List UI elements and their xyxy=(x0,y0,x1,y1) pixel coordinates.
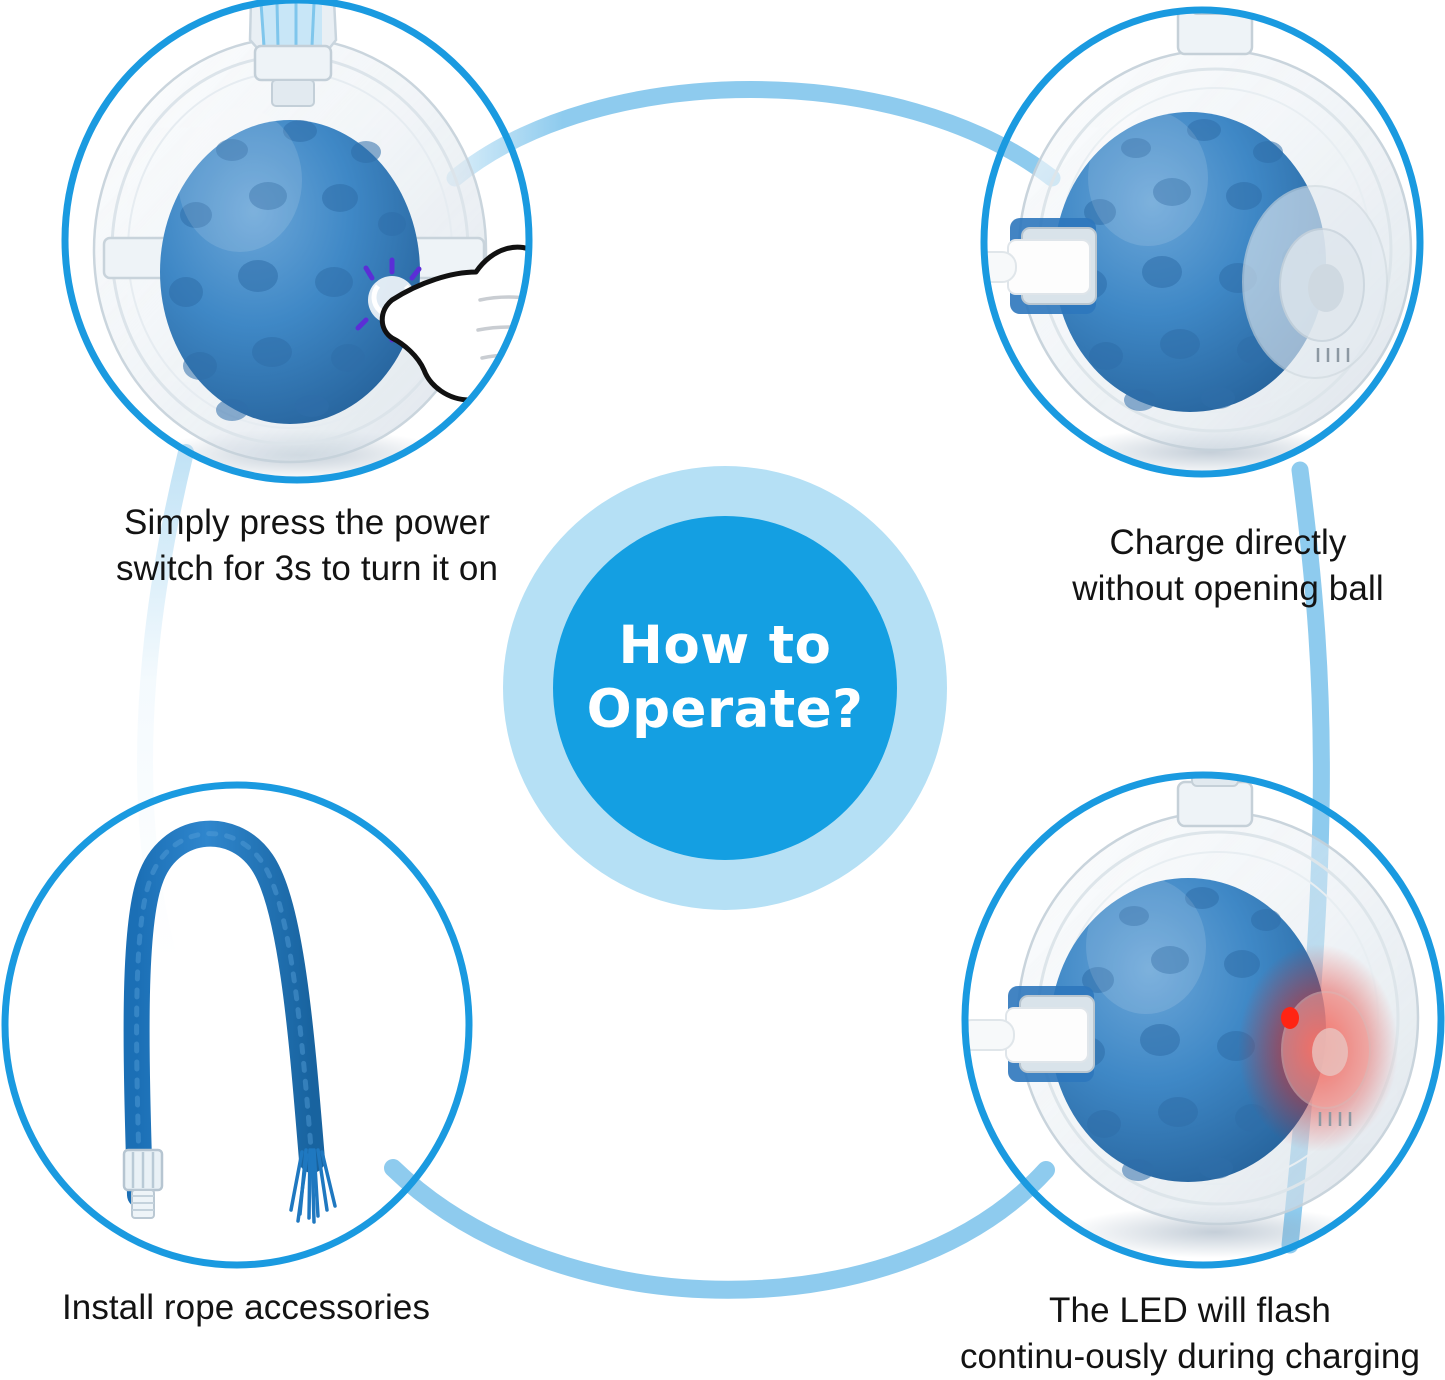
circle-frame-led xyxy=(965,775,1441,1265)
circle-frame-charge xyxy=(984,10,1420,474)
circle-frame-rope xyxy=(5,785,469,1265)
circle-frame-power-on xyxy=(65,0,529,480)
infographic-canvas: How to Operate? Simply press the power s… xyxy=(0,0,1445,1376)
center-badge-title: How to Operate? xyxy=(560,614,890,742)
caption-led: The LED will flash continu-ously during … xyxy=(940,1288,1440,1380)
caption-charge: Charge directly without opening ball xyxy=(1028,520,1428,612)
caption-power-on: Simply press the power switch for 3s to … xyxy=(92,500,522,592)
caption-rope: Install rope accessories xyxy=(36,1285,456,1331)
